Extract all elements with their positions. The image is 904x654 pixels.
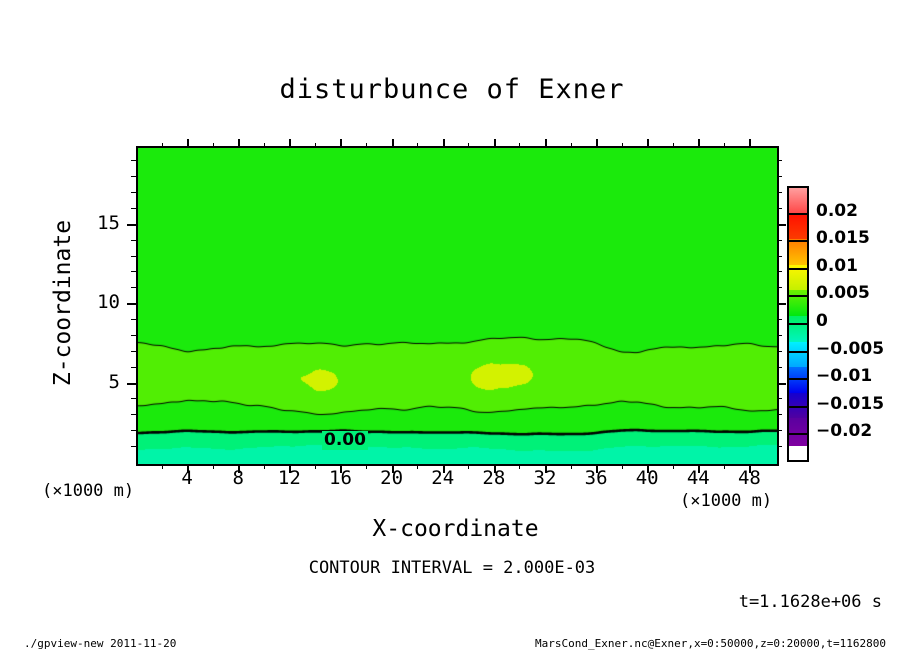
y-tick-right-8 [777,335,782,336]
x-tick-top-32 [545,139,547,148]
page-title: disturbunce of Exner [0,74,904,105]
footer-dataset: MarsCond_Exner.nc@Exner,x=0:50000,z=0:20… [0,637,886,650]
x-tick-top-42 [673,143,674,148]
y-tick-9 [131,319,136,320]
y-tick-right-7 [777,351,782,352]
y-tick-3 [131,414,136,415]
x-tick-top-22 [417,143,418,148]
colorbar-separator-1 [787,240,809,242]
colorbar-separator-4 [787,323,809,325]
contour-interval-note: CONTOUR INTERVAL = 2.000E-03 [0,558,904,578]
colorbar-label-1: 0.015 [816,228,870,248]
colorbar-band-0 [789,188,807,214]
colorbar-separator-6 [787,378,809,380]
y-tick-right-15 [777,224,786,226]
y-tick-right-18 [777,176,782,177]
x-tick-top-36 [596,139,598,148]
colorbar-separator-2 [787,268,809,270]
y-tick-right-6 [777,367,782,368]
colorbar-label-8: −0.02 [816,421,872,441]
x-tick-top-14 [315,143,316,148]
y-tick-right-17 [777,192,782,193]
y-tick-right-16 [777,208,782,209]
x-tick-top-48 [749,139,751,148]
contour-plot-area [136,146,779,466]
y-tick-6 [131,367,136,368]
x-tick-top-34 [571,143,572,148]
y-tick-right-13 [777,256,782,257]
colorbar-label-7: −0.015 [816,394,884,414]
colorbar-band-9 [789,418,807,446]
z-axis-unit-label: (×1000 m) [42,481,134,501]
colorbar-label-2: 0.01 [816,256,858,276]
y-tick-right-2 [777,430,782,431]
colorbar-label-6: −0.01 [816,366,872,386]
y-tick-right-19 [777,160,782,161]
x-tick-top-8 [238,139,240,148]
x-tick-top-26 [468,143,469,148]
x-tick-top-20 [392,139,394,148]
x-tick-top-6 [213,143,214,148]
colorbar-label-0: 0.02 [816,201,858,221]
x-tick-top-38 [622,143,623,148]
time-stamp-note: t=1.1628e+06 s [0,592,882,612]
y-tick-right-9 [777,319,782,320]
colorbar-separator-3 [787,295,809,297]
y-tick-7 [131,351,136,352]
y-tick-11 [131,287,136,288]
y-tick-14 [131,240,136,241]
colorbar-label-5: −0.005 [816,339,884,359]
x-tick-top-2 [162,143,163,148]
x-tick-top-4 [187,139,189,148]
y-tick-13 [131,256,136,257]
x-axis-title: X-coordinate [136,516,775,542]
colorbar-band-1 [789,214,807,240]
x-tick-top-16 [340,139,342,148]
y-tick-12 [131,271,136,272]
x-tick-top-18 [366,143,367,148]
colorbar-band-6 [789,342,807,368]
y-tick-19 [131,160,136,161]
y-tick-right-1 [777,446,782,447]
y-tick-right-14 [777,240,782,241]
y-axis-title: Z-coordinate [50,203,76,403]
colorbar-separator-7 [787,406,809,408]
y-tick-label-15: 15 [80,212,120,234]
y-tick-1 [131,446,136,447]
y-tick-right-10 [777,303,786,305]
zero-contour-label: 0.00 [322,431,368,450]
y-tick-4 [131,398,136,399]
contour-field-canvas [138,148,777,464]
x-tick-label-48: 48 [719,467,779,489]
y-tick-15 [127,224,136,226]
colorbar-separator-8 [787,433,809,435]
colorbar-band-5 [789,316,807,342]
colorbar-band-2 [789,239,807,265]
y-tick-right-11 [777,287,782,288]
colorbar-label-3: 0.005 [816,283,870,303]
colorbar-separator-5 [787,351,809,353]
y-tick-label-10: 10 [80,291,120,313]
x-tick-top-40 [647,139,649,148]
x-tick-top-30 [519,143,520,148]
x-tick-top-46 [724,143,725,148]
x-tick-top-44 [698,139,700,148]
y-tick-right-3 [777,414,782,415]
colorbar-separator-0 [787,213,809,215]
x-axis-unit-label: (×1000 m) [680,491,772,511]
colorbar-band-4 [789,290,807,316]
colorbar-label-4: 0 [816,311,828,331]
x-tick-top-10 [264,143,265,148]
y-tick-2 [131,430,136,431]
y-tick-right-5 [777,383,786,385]
y-tick-label-5: 5 [80,371,120,393]
y-tick-right-4 [777,398,782,399]
y-tick-16 [131,208,136,209]
y-tick-8 [131,335,136,336]
y-tick-5 [127,383,136,385]
x-tick-top-12 [289,139,291,148]
y-tick-18 [131,176,136,177]
y-tick-17 [131,192,136,193]
y-tick-10 [127,303,136,305]
x-tick-top-24 [443,139,445,148]
x-tick-top-28 [494,139,496,148]
y-tick-right-12 [777,271,782,272]
